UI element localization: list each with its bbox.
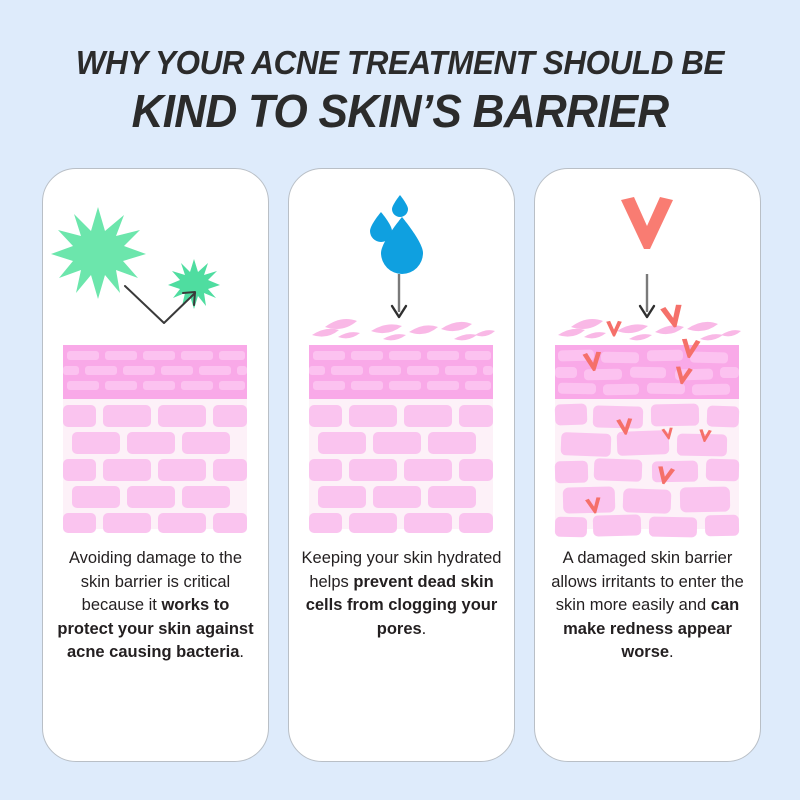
- page-title: WHY YOUR ACNE TREATMENT SHOULD BE KIND T…: [0, 44, 800, 137]
- panel-protected-caption: Avoiding damage to the skin barrier is c…: [53, 547, 258, 665]
- down-arrow-icon: [392, 274, 406, 317]
- caption-text-period: .: [239, 643, 244, 661]
- panel-damaged-caption: A damaged skin barrier allows irritants …: [545, 547, 750, 665]
- down-arrow-icon: [640, 274, 654, 317]
- panel-protected[interactable]: Avoiding damage to the skin barrier is c…: [42, 168, 269, 762]
- panel-hydrated-illustration: [289, 169, 514, 539]
- water-droplet-icon: [370, 195, 423, 274]
- caption-text-period: .: [422, 620, 427, 638]
- panel-damaged[interactable]: A damaged skin barrier allows irritants …: [534, 168, 761, 762]
- panel-hydrated-caption: Keeping your skin hydrated helps prevent…: [299, 547, 504, 641]
- infographic-canvas: WHY YOUR ACNE TREATMENT SHOULD BE KIND T…: [0, 0, 800, 800]
- title-line-1: WHY YOUR ACNE TREATMENT SHOULD BE: [20, 44, 780, 82]
- dead-skin-flakes-icon: [312, 319, 495, 340]
- panel-protected-illustration: [43, 169, 268, 539]
- title-line-2: KIND TO SKIN’S BARRIER: [16, 85, 784, 137]
- dead-skin-flakes-icon: [558, 319, 741, 340]
- skin-barrier-wall-intact: [63, 345, 247, 533]
- skin-barrier-wall-hydrated: [309, 345, 493, 533]
- irritant-chevron-icon: [621, 197, 673, 249]
- caption-text-period: .: [669, 643, 674, 661]
- panel-damaged-illustration: [535, 169, 760, 539]
- panel-hydrated[interactable]: Keeping your skin hydrated helps prevent…: [288, 168, 515, 762]
